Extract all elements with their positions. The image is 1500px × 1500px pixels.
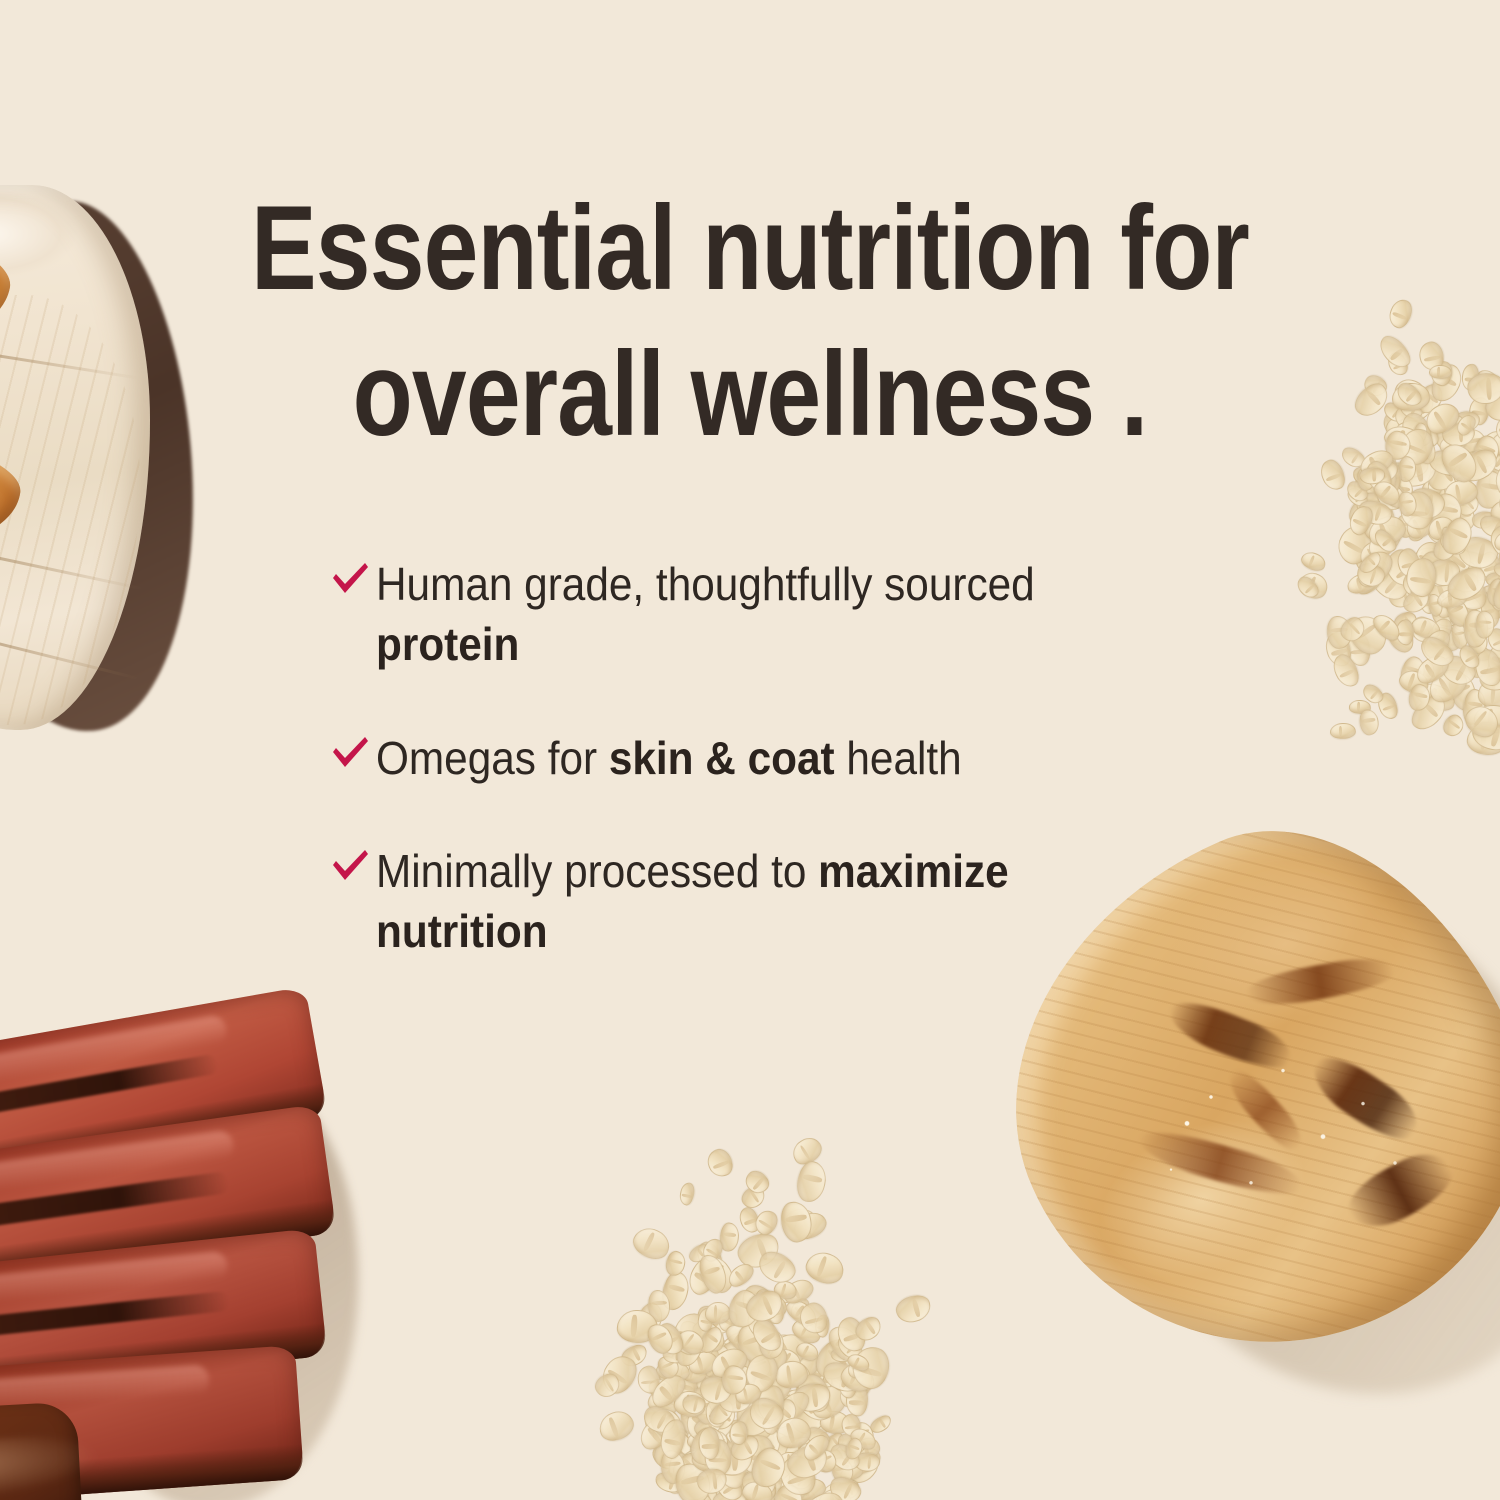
oat-flake [1369,476,1404,510]
oat-flake [1375,690,1401,722]
beef-sear-crust [0,1291,230,1350]
oat-flake [705,1339,739,1370]
oat-flake [671,1329,707,1371]
oat-flake [1473,469,1500,511]
oat-flake [1450,602,1481,630]
oat-flake [664,1344,709,1387]
oat-flake [630,1299,667,1342]
oat-flake [667,1308,715,1360]
oat-flake [1450,503,1476,533]
oat-flake [854,1435,883,1462]
oat-flake [819,1430,847,1456]
oat-flake [823,1320,866,1366]
oat-flake [791,1476,827,1500]
oat-flake [686,1241,713,1266]
oat-flake [742,1335,778,1364]
oat-flake [825,1439,864,1476]
oat-flake [1461,587,1500,635]
oat-flake [1386,582,1419,611]
beef-slice [0,1104,337,1302]
oat-flake [1441,422,1475,447]
oat-flake [691,1367,731,1407]
oat-flake [676,1343,723,1386]
oat-flake [683,1386,723,1415]
benefit-text: Minimally processed to maximize nutritio… [376,842,1130,962]
oat-flake [773,1356,815,1392]
oat-flake [701,1411,733,1440]
oat-flake [1381,399,1409,426]
oat-flake [673,1369,715,1414]
oat-flake [704,1146,736,1181]
beef-shadow [0,1019,391,1500]
oat-flake [696,1306,717,1333]
oat-flake [834,1429,868,1459]
oat-flake [831,1348,854,1363]
oat-flake [1383,411,1421,446]
oat-flake [710,1336,749,1378]
oat-flake [657,1417,688,1461]
oat-flake [1409,544,1443,573]
oat-flake [1453,412,1479,439]
oat-flake [1436,529,1469,560]
oat-flake [1472,647,1500,688]
oat-flake [1322,629,1354,669]
oat-flake [1370,526,1399,556]
oat-flake [772,1414,813,1452]
oat-flake [1396,455,1418,483]
oat-flake [1446,460,1476,480]
oat-flake [1344,491,1385,533]
oat-flake [813,1446,839,1474]
benefit-item: Minimally processed to maximize nutritio… [330,842,1230,962]
oat-flake [1405,485,1448,523]
oat-flake [792,1382,832,1414]
oat-flake [1369,515,1399,547]
oat-flake [737,1432,778,1478]
oat-flake [773,1359,810,1390]
oat-flake [1355,535,1393,572]
oat-flake [785,1390,834,1440]
oat-flake [1477,676,1500,710]
oat-flake [737,1182,768,1212]
oat-flake [767,1479,789,1500]
oat-flake [713,1325,762,1371]
oat-flake [702,1360,743,1402]
oat-flake [726,1467,761,1500]
oat-flake [1489,571,1500,614]
oat-flake [683,1251,726,1300]
oat-flake [1486,572,1500,588]
oat-flake [744,1359,799,1414]
oat-flake [1397,567,1434,602]
oat-flake [1476,511,1500,542]
oat-flake [1349,700,1372,715]
oat-flake [726,1420,748,1448]
oat-flake [719,1222,740,1253]
oat-flake [779,1387,808,1415]
oat-flake [738,1419,789,1472]
oat-flake [1396,513,1416,538]
oat-flake [838,1372,859,1399]
oat-flake [1460,699,1500,743]
oat-flake [1402,415,1443,454]
oat-flake [1423,456,1466,497]
oat-flake [1390,399,1425,435]
oat-flake [1404,555,1440,598]
oat-flake [834,1375,871,1412]
oat-flake [1344,485,1371,510]
oat-flake [733,1382,762,1407]
oat-flake [684,1421,732,1471]
turkey-slice-line [0,605,140,680]
oat-flake [754,1246,801,1289]
oat-flake [736,1326,781,1373]
oat-flake [1484,572,1500,617]
oat-flake [772,1278,799,1302]
oat-flake [779,1443,815,1481]
oat-flake [759,1405,783,1436]
oat-flake [1435,542,1477,585]
oat-flake [746,1485,779,1500]
oat-flake [1363,460,1389,483]
oat-flake [1471,510,1496,530]
oat-flake [842,1442,885,1479]
oat-flake [1368,464,1400,500]
oat-flake [893,1292,933,1326]
oat-flake [742,1329,772,1363]
oat-flake [1412,678,1459,715]
oat-flake [1381,421,1427,456]
oat-flake [1492,560,1500,581]
oat-flake [800,1359,829,1394]
oat-flake [839,1464,865,1483]
oat-flake [760,1331,802,1366]
benefit-item: Human grade, thoughtfully sourced protei… [330,555,1230,675]
oat-flake [1391,382,1431,412]
oat-flake [1435,587,1468,610]
oat-flake [806,1363,837,1399]
oat-flake [688,1314,730,1356]
oat-flake [1295,568,1332,603]
oat-flake [680,1395,728,1446]
oat-flake [1493,479,1500,516]
oat-flake [1410,537,1448,577]
oat-flake [721,1379,751,1413]
oat-flake [1466,372,1500,405]
oat-flake [1464,609,1488,648]
oat-flake [1345,571,1379,596]
oat-flake [853,1452,881,1473]
oat-flake [658,1269,692,1313]
oat-flake [1429,598,1461,622]
oat-flake [675,1317,707,1354]
oat-flake [848,1424,880,1453]
oat-flake [1379,544,1427,594]
page-title: Essential nutrition for overall wellness… [135,175,1365,468]
oat-flake [787,1294,813,1321]
oat-flake [1446,556,1485,596]
oat-flake [616,1308,659,1343]
oat-flake [845,1383,869,1417]
oat-flake [1473,704,1500,734]
oat-flake [648,1441,685,1475]
oat-flake [741,1416,779,1450]
oat-flake [735,1376,771,1417]
oat-flake [769,1343,806,1379]
oat-flake [780,1275,817,1307]
oat-flake [849,1373,874,1401]
oat-flake [729,1376,754,1406]
oat-flake [785,1465,815,1493]
oat-flake [1409,614,1436,645]
oat-flake [692,1413,724,1440]
oat-flake [1397,654,1428,691]
oat-flake [749,1293,787,1321]
oat-flake [742,1305,780,1345]
oat-flake [1358,467,1384,485]
oat-flake [778,1462,809,1500]
oat-flake [845,1360,879,1395]
oat-flake [1360,516,1395,549]
oat-flake [1454,444,1500,487]
oat-flake [1478,582,1500,622]
oat-flake [803,1423,834,1451]
oat-flake [1366,529,1395,561]
oat-flake [1485,521,1500,563]
turkey-grain-texture [0,295,140,725]
oat-flake [843,1436,866,1462]
oat-flake [1439,525,1459,551]
oat-flake [1415,574,1460,609]
oat-flake [802,1248,848,1289]
oat-flake [711,1339,749,1382]
oat-flake [706,1342,752,1383]
oat-flake [1401,456,1431,480]
oat-flake [1484,626,1500,655]
oat-flake [1488,427,1500,463]
beef-slice [0,1345,304,1500]
oat-flake [1364,509,1396,539]
oat-flake [1421,398,1465,439]
oat-flake [1389,415,1429,451]
oat-flake [834,1314,869,1355]
oat-flake [1358,708,1380,736]
oat-flake [724,1259,757,1291]
oat-flake [690,1442,732,1476]
oat-flake [733,1319,776,1366]
oat-flake [784,1456,803,1482]
oat-flake [1423,444,1465,489]
oat-flake [721,1487,761,1500]
oat-flake [1456,642,1483,672]
oat-flake [1364,512,1409,551]
oat-flake [844,1354,873,1381]
oat-flake [753,1287,776,1317]
oat-flake [1343,609,1394,661]
oat-flake [1430,557,1466,592]
oat-flake [1354,490,1395,523]
oat-flake [645,1403,688,1445]
oat-flake [736,1485,764,1500]
oat-flake [1430,600,1465,627]
oat-flake [762,1485,806,1500]
oat-flake [1459,427,1489,461]
oat-flake [1455,533,1500,572]
oat-flake [1406,690,1452,736]
oat-flake [689,1346,719,1365]
oat-flake [734,1229,784,1273]
oat-flake [693,1437,725,1470]
oat-flake [1391,609,1421,638]
oat-flake [755,1426,796,1464]
oat-flake [1477,426,1500,462]
oat-flake [1469,718,1500,755]
turkey-crispy-skin [0,196,18,354]
oat-flake [659,1453,702,1499]
oat-flake [1454,575,1490,614]
oat-flake [715,1369,764,1415]
oat-flake [775,1452,820,1500]
oat-flake [1468,646,1492,662]
chicken-char-mark [1133,1122,1306,1203]
oat-flake [1397,490,1418,517]
oat-flake [732,1396,781,1443]
oat-flake [742,1286,787,1327]
oat-flake [1460,687,1488,726]
oat-flake [747,1443,791,1492]
oat-flake [663,1249,688,1278]
oat-flake [1400,550,1447,594]
oat-flake [808,1333,860,1387]
oat-flake [705,1301,731,1324]
chicken-char-mark [1220,1063,1309,1157]
oat-flake [1364,459,1398,483]
oat-flake [655,1359,691,1383]
oat-flake [1405,565,1440,602]
oat-flake [686,1348,720,1377]
oat-flake [748,1334,778,1364]
beef-slice [0,1228,327,1408]
oat-flake [1424,544,1462,586]
oat-flake [1442,561,1491,606]
oat-flake [1418,590,1436,615]
oat-flake [1369,610,1405,646]
oat-flake [1451,461,1474,489]
oat-flake [825,1472,864,1500]
oat-flake [1423,663,1472,708]
oat-flake [1425,360,1467,407]
oat-flake [1492,529,1500,554]
oat-flake [765,1342,800,1375]
oat-flake [819,1357,867,1397]
promo-banner: Essential nutrition for overall wellness… [0,0,1500,1500]
oat-flake [644,1320,678,1357]
oat-flake [1361,457,1395,496]
oat-flake [1465,722,1500,757]
oat-flake [1346,632,1371,667]
oat-flake [752,1347,802,1394]
oat-flake [1330,723,1356,740]
oat-flake [1406,427,1439,468]
oat-flake [762,1442,791,1475]
turkey-flesh [0,185,150,730]
oat-flake [1420,560,1466,607]
oat-flake [817,1488,852,1500]
oat-flake [1485,576,1500,608]
oat-flake [628,1222,674,1264]
oat-flake [648,1290,671,1323]
oat-flake [1409,554,1435,581]
oat-flake [1429,491,1465,532]
oat-flake [738,1484,761,1500]
oat-flake [1393,379,1426,411]
turkey-crispy-skin [0,413,26,557]
turkey-slice-line [0,523,143,590]
oat-flake [1405,508,1433,544]
oat-flake [703,1379,743,1416]
oat-flake [1428,358,1454,387]
oat-flake [697,1373,734,1407]
chicken-glisten-highlights [1075,965,1475,1295]
oat-flake [1494,416,1500,442]
oat-flake [793,1436,833,1475]
oat-flake [1427,448,1471,479]
oat-flake [778,1452,802,1469]
oat-flake [718,1451,746,1489]
oat-flake [1355,496,1395,529]
oat-flake [766,1329,813,1372]
oat-flake [1421,510,1465,551]
oat-flake [729,1437,766,1478]
oat-flake [719,1390,753,1414]
oat-flake [634,1411,679,1455]
oat-flake [1385,349,1411,378]
oat-flake [1399,585,1434,618]
oat-flake [739,1467,778,1500]
beef-end-crust [0,1401,83,1500]
oat-flake [1383,457,1417,491]
oat-flake [769,1480,807,1500]
oat-flake [737,1493,782,1500]
oat-flake [1354,550,1385,576]
oat-flake [1393,453,1439,489]
check-icon [330,561,376,597]
oat-flake [1354,560,1388,590]
oat-flake [1397,408,1437,452]
oat-flake [698,1428,733,1455]
oat-flake [782,1295,821,1331]
oat-flake [696,1323,727,1357]
oat-flake [636,1365,660,1394]
oat-flake [711,1464,759,1500]
oat-flake [1484,640,1500,668]
chicken-char-mark [1302,1045,1427,1150]
oat-flake [705,1397,727,1428]
oat-flake [1361,372,1391,401]
oat-flake [1494,569,1500,604]
oat-flake [800,1486,848,1500]
oat-flake [673,1367,701,1403]
oat-flake [722,1318,763,1358]
oat-flake [783,1207,818,1235]
oat-flake [739,1478,775,1500]
oat-flake [1439,711,1468,741]
oat-flake [700,1360,726,1392]
oat-flake [1379,406,1428,447]
oat-flake [693,1301,736,1339]
oat-flake [779,1199,815,1244]
oat-flake [1437,507,1465,534]
